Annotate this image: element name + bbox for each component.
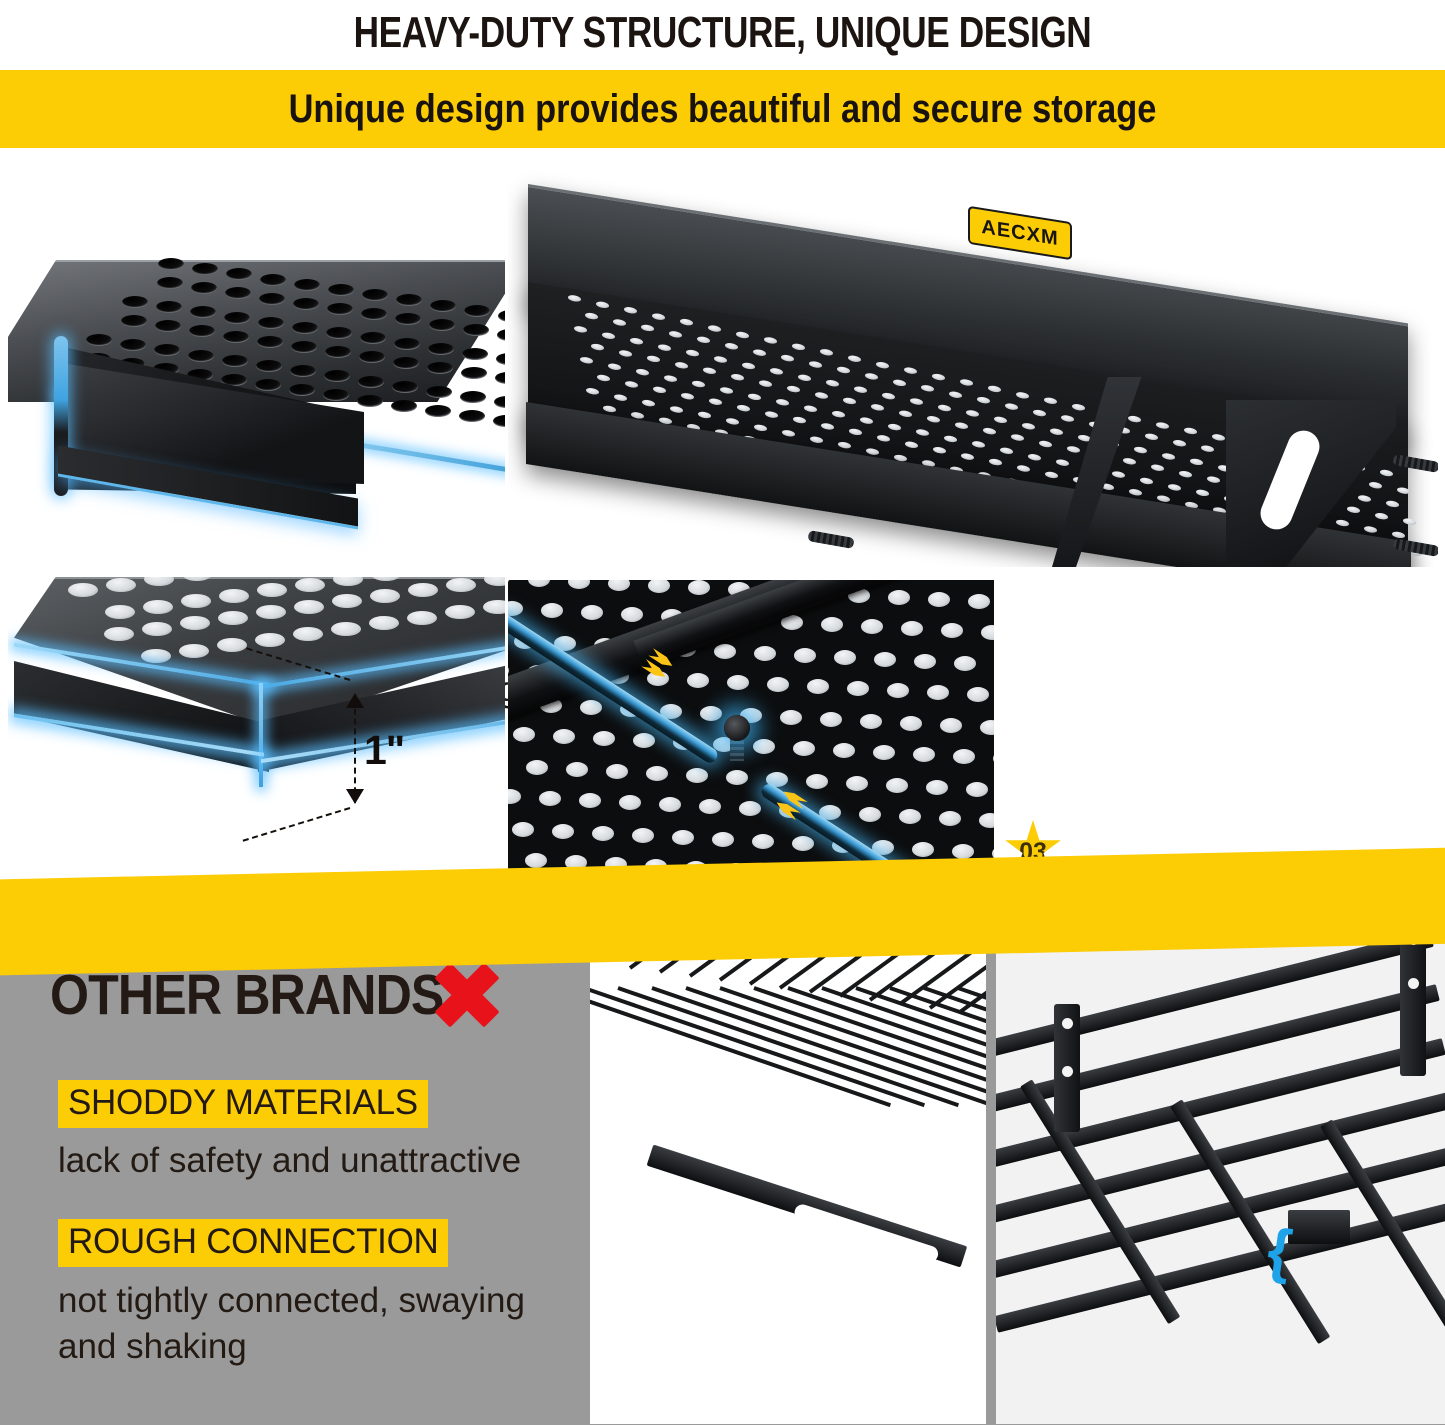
perforation-hole <box>887 683 909 698</box>
perforation-hole <box>669 330 682 338</box>
arrow-down-icon <box>346 789 364 804</box>
perforation-hole <box>680 318 693 326</box>
perforation-hole <box>972 441 985 449</box>
perforation-hole <box>1336 519 1349 527</box>
perforation-hole <box>1044 397 1057 405</box>
perforation-hole <box>703 367 716 375</box>
perforation-hole <box>552 824 574 839</box>
perforation-hole <box>291 341 317 353</box>
slide-rail-glow <box>759 781 935 872</box>
perforation-hole <box>630 337 643 345</box>
perforation-hole <box>692 380 705 388</box>
perforation-hole <box>428 343 454 355</box>
perforation-hole <box>653 386 666 394</box>
perforation-hole <box>938 404 951 412</box>
perforation-hole <box>508 580 510 585</box>
perforation-hole <box>393 357 419 369</box>
perforation-hole <box>606 764 628 779</box>
perforation-hole <box>158 258 184 270</box>
perforation-hole <box>429 319 455 331</box>
perforation-hole <box>664 374 677 382</box>
perforation-hole <box>1196 489 1209 497</box>
perforation-hole <box>181 594 211 608</box>
perforation-hole <box>68 583 98 597</box>
perforation-hole <box>508 789 521 804</box>
perforation-hole <box>493 415 505 427</box>
perforation-hole <box>526 760 548 775</box>
perforation-hole <box>445 605 475 619</box>
perforation-hole <box>849 428 862 436</box>
perforation-hole <box>888 423 901 431</box>
perforation-hole <box>86 334 112 346</box>
perforation-hole <box>328 284 354 296</box>
perforation-hole <box>793 741 815 756</box>
perforation-hole <box>697 336 710 344</box>
perforation-hole <box>820 712 842 727</box>
perforation-hole <box>608 580 630 591</box>
perforation-hole <box>904 367 917 375</box>
perforation-hole <box>1347 506 1360 514</box>
perforation-hole <box>392 381 418 393</box>
perforation-hole <box>675 361 688 369</box>
perforation-hole <box>648 580 670 593</box>
perforation-hole <box>494 396 505 408</box>
perforation-hole <box>1364 525 1377 533</box>
perforation-hole <box>670 405 683 413</box>
perforation-hole <box>1129 489 1142 497</box>
perforation-hole <box>591 343 604 351</box>
perforation-hole <box>832 411 845 419</box>
perforation-hole <box>105 605 135 619</box>
perforation-hole <box>1386 500 1399 508</box>
perforation-hole <box>821 617 843 632</box>
perforation-hole <box>834 650 856 665</box>
perforation-hole <box>967 687 989 702</box>
perforation-hole <box>256 360 282 372</box>
perforation-hole <box>327 303 353 315</box>
perforation-hole <box>826 380 839 388</box>
perforation-hole <box>646 766 668 781</box>
perforation-hole <box>759 379 772 387</box>
perforation-hole <box>794 648 816 663</box>
con-detail-2: not tightly connected, swaying and shaki… <box>58 1278 568 1369</box>
hero-product-photo: AECXM <box>508 162 1438 567</box>
perforation-hole <box>955 421 968 429</box>
perforation-hole <box>593 731 615 746</box>
other-brand-wire-shelf-photo <box>590 926 986 1424</box>
perforation-hole <box>983 427 996 435</box>
perforation-hole <box>513 727 535 742</box>
perforation-hole <box>106 578 136 592</box>
perforation-hole <box>632 828 654 843</box>
perforation-hole <box>596 300 609 308</box>
perforation-hole <box>871 403 884 411</box>
perforation-hole <box>781 354 794 362</box>
perforation-hole <box>753 739 775 754</box>
perforation-hole <box>585 312 598 320</box>
perforation-hole <box>1173 439 1186 447</box>
perforation-hole <box>459 410 485 422</box>
perforation-hole <box>905 440 918 448</box>
perforation-hole <box>1128 415 1141 423</box>
perforation-hole <box>223 331 249 343</box>
perforation-hole <box>255 633 285 647</box>
perforation-hole <box>1162 452 1175 460</box>
perforation-hole <box>295 578 325 592</box>
perforation-hole <box>483 600 505 614</box>
perforation-hole <box>641 324 654 332</box>
perforation-hole <box>727 675 749 690</box>
perforation-hole <box>461 367 487 379</box>
perforation-hole <box>1017 464 1030 472</box>
perforation-hole <box>217 638 247 652</box>
perforation-hole <box>224 312 250 324</box>
perforation-hole <box>541 603 563 618</box>
perforation-hole <box>1140 477 1153 485</box>
perforation-hole <box>619 795 641 810</box>
perforation-hole <box>568 294 581 302</box>
perforation-hole <box>989 458 1002 466</box>
perforation-hole <box>631 411 644 419</box>
perforation-hole <box>1403 518 1416 526</box>
perforation-hole <box>625 380 638 388</box>
perforation-hole <box>1145 433 1158 441</box>
perforation-hole <box>636 368 649 376</box>
wall-mount-bracket <box>1054 1004 1080 1132</box>
perforation-hole <box>370 589 400 603</box>
perforation-hole <box>720 386 733 394</box>
perforation-hole <box>1375 512 1388 520</box>
perforation-hole <box>807 679 829 694</box>
arrow-up-icon <box>346 693 364 708</box>
perforation-hole <box>767 677 789 692</box>
perforation-hole <box>927 415 940 423</box>
perforation-hole <box>737 404 750 412</box>
perforation-hole <box>988 385 1001 393</box>
perforation-hole <box>1358 494 1371 502</box>
perforation-hole <box>977 397 990 405</box>
perforation-hole <box>512 822 534 837</box>
perforation-hole <box>714 644 736 659</box>
other-brand-slat-shelf-photo: { <box>996 926 1445 1424</box>
perforation-hole <box>427 362 453 374</box>
perforation-hole <box>464 305 490 317</box>
perforation-hole <box>914 654 936 669</box>
perforation-hole <box>603 405 616 413</box>
feature-photo-slide-rail <box>508 580 994 872</box>
perforation-hole <box>806 774 828 789</box>
perforation-hole <box>258 317 284 329</box>
wall-mount-bracket <box>1400 926 1426 1076</box>
perforation-hole <box>866 448 879 456</box>
perforation-hole <box>913 747 935 762</box>
perforation-hole <box>1067 446 1080 454</box>
perforation-hole <box>1039 440 1052 448</box>
perforation-hole <box>859 807 881 822</box>
perforation-hole <box>658 343 671 351</box>
perforation-hole <box>446 578 476 592</box>
perforation-hole <box>568 580 590 589</box>
perforation-hole <box>939 811 961 826</box>
perforation-hole <box>736 331 749 339</box>
perforation-hole <box>810 435 823 443</box>
perforation-hole <box>179 644 209 658</box>
perforation-hole <box>899 809 921 824</box>
perforation-hole <box>614 393 627 401</box>
perforation-hole <box>980 720 994 735</box>
perforation-hole <box>953 749 975 764</box>
perforation-hole <box>886 778 908 793</box>
perforation-hole <box>854 386 867 394</box>
perforation-hole <box>893 378 906 386</box>
perforation-hole <box>821 422 834 430</box>
perforation-hole <box>332 594 362 608</box>
perforation-hole <box>865 372 878 380</box>
perforation-hole <box>837 366 850 374</box>
perforation-hole <box>709 398 722 406</box>
perforation-hole <box>597 374 610 382</box>
perforation-hole <box>961 452 974 460</box>
perforation-hole <box>954 656 976 671</box>
perforation-hole <box>754 423 767 431</box>
perforation-hole <box>1184 427 1197 435</box>
perforation-hole <box>1045 470 1058 478</box>
perforation-hole <box>580 700 602 715</box>
perforation-hole <box>574 325 587 333</box>
perforation-hole <box>358 376 384 388</box>
perforation-hole <box>592 826 614 841</box>
perforation-hole <box>933 446 946 454</box>
perforation-hole <box>1011 433 1024 441</box>
perforation-hole <box>633 733 655 748</box>
perforation-hole <box>460 391 486 403</box>
perforation-hole <box>780 710 802 725</box>
feature-photo-one-piece <box>8 214 505 569</box>
perforation-hole <box>899 409 912 417</box>
perforation-hole <box>860 714 882 729</box>
c-channel-art <box>8 214 505 569</box>
perforation-hole <box>525 853 547 868</box>
perforation-hole <box>1134 446 1147 454</box>
perforation-hole <box>1072 403 1085 411</box>
perforation-hole <box>698 411 711 419</box>
perforation-hole <box>838 441 851 449</box>
perforation-hole <box>621 607 643 622</box>
perforation-hole <box>726 417 739 425</box>
perforation-hole <box>581 605 603 620</box>
perforation-hole <box>463 324 489 336</box>
perforation-hole <box>1156 421 1169 429</box>
hero-art: AECXM <box>508 162 1438 567</box>
perforation-hole <box>1000 447 1013 455</box>
perforation-hole <box>579 793 601 808</box>
perforation-hole <box>141 649 171 663</box>
perforation-hole <box>331 622 361 636</box>
perforation-hole <box>932 373 945 381</box>
perforation-hole <box>820 349 833 357</box>
perforation-hole <box>944 435 957 443</box>
perforation-hole <box>143 600 173 614</box>
perforation-hole <box>553 729 575 744</box>
perforation-hole <box>1022 422 1035 430</box>
perforation-hole <box>1056 459 1069 467</box>
perforation-hole <box>1123 458 1136 466</box>
perforation-hole <box>776 398 789 406</box>
perforation-hole <box>619 349 632 357</box>
perforation-hole <box>294 279 320 291</box>
perforation-hole <box>846 776 868 791</box>
perforation-hole <box>748 392 761 400</box>
slat-shelf-art <box>996 926 1445 1424</box>
perforation-hole <box>394 338 420 350</box>
perforation-hole <box>960 379 973 387</box>
perforation-hole <box>586 387 599 395</box>
perforation-hole <box>391 400 417 412</box>
perforation-hole <box>708 325 721 333</box>
feature-photo-sturdy-frame: 1" <box>8 577 505 857</box>
perforation-hole <box>876 361 889 369</box>
perforation-hole <box>681 392 694 400</box>
perforation-hole <box>994 416 1007 424</box>
infographic-page: HEAVY-DUTY STRUCTURE, UNIQUE DESIGN Uniq… <box>0 0 1445 1425</box>
perforation-hole <box>1369 481 1382 489</box>
perforation-hole <box>1033 409 1046 417</box>
perforation-hole <box>968 594 990 609</box>
perforation-hole <box>1179 470 1192 478</box>
perforation-hole <box>157 277 183 289</box>
perforation-hole <box>804 405 817 413</box>
perforation-hole <box>686 349 699 357</box>
perforation-hole <box>608 362 621 370</box>
perforation-hole <box>260 274 286 286</box>
perforation-hole <box>782 429 795 437</box>
perforation-hole <box>1151 464 1164 472</box>
perforation-hole <box>613 318 626 326</box>
header-subtitle: Unique design provides beautiful and sec… <box>101 70 1344 148</box>
perforation-hole <box>1201 445 1214 453</box>
comparison-zone: OTHER BRANDS SHODDY MATERIALS lack of sa… <box>0 912 1445 1425</box>
perforation-hole <box>425 405 451 417</box>
perforation-hole <box>369 616 399 630</box>
perforation-hole <box>1212 433 1225 441</box>
perforation-hole <box>1061 415 1074 423</box>
perforation-hole <box>714 355 727 363</box>
perforation-hole <box>255 379 281 391</box>
perforation-hole <box>180 616 210 630</box>
perforation-hole <box>602 331 615 339</box>
perforation-hole <box>659 797 681 812</box>
perforation-hole <box>462 348 488 360</box>
perforation-hole <box>926 780 948 795</box>
perforation-hole <box>927 685 949 700</box>
perforation-hole <box>497 329 505 341</box>
perforation-hole <box>888 590 910 605</box>
perforation-hole <box>495 372 505 384</box>
dimension-value: 1" <box>364 727 404 774</box>
perforation-hole <box>941 623 963 638</box>
brand-badge: AECXM <box>968 206 1072 260</box>
perforation-hole <box>688 580 710 595</box>
perforation-hole <box>566 762 588 777</box>
slide-rail-art <box>508 580 994 872</box>
perforation-hole <box>1050 428 1063 436</box>
perforation-hole <box>765 410 778 418</box>
corner-art: 1" <box>8 577 505 857</box>
accessory-hook <box>807 530 854 549</box>
perforation-hole <box>256 605 286 619</box>
perforation-hole <box>257 336 283 348</box>
perforation-hole <box>921 384 934 392</box>
perforation-hole <box>1005 403 1018 411</box>
dimension-callout: 1" <box>330 685 450 815</box>
perforation-hole <box>686 768 708 783</box>
shelf-connector-block <box>1288 1210 1350 1244</box>
perforation-hole <box>687 673 709 688</box>
perforation-hole <box>1016 391 1029 399</box>
dimension-line <box>354 699 356 803</box>
perforation-hole <box>949 390 962 398</box>
dimension-leader-line <box>243 807 351 842</box>
perforation-hole <box>787 385 800 393</box>
perforation-hole <box>809 360 822 368</box>
perforation-hole <box>222 355 248 367</box>
perforation-hole <box>293 627 323 641</box>
perforation-hole <box>104 627 134 641</box>
perforation-hole <box>966 410 979 418</box>
perforation-hole <box>219 589 249 603</box>
feature-zone: AECXM 01 One-piece Folding And Forming <box>0 152 1445 892</box>
perforation-hole <box>528 580 550 587</box>
perforation-hole <box>843 397 856 405</box>
perforation-hole <box>652 312 665 320</box>
perforation-hole <box>861 619 883 634</box>
perforation-hole <box>792 836 814 851</box>
perforation-hole <box>833 743 855 758</box>
perforation-hole <box>1397 487 1410 495</box>
perforation-hole <box>624 306 637 314</box>
perforation-hole <box>672 830 694 845</box>
con-headline-2: ROUGH CONNECTION <box>58 1219 448 1267</box>
page-title: HEAVY-DUTY STRUCTURE, UNIQUE DESIGN <box>145 2 1301 64</box>
perforation-hole <box>408 583 438 597</box>
perforation-hole <box>848 355 861 363</box>
perforation-hole <box>901 621 923 636</box>
bracket-cutout <box>1256 426 1325 534</box>
perforation-hole <box>1168 483 1181 491</box>
perforation-hole <box>259 293 285 305</box>
wire-mesh-art <box>590 926 986 1424</box>
perforation-hole <box>508 601 523 616</box>
perforation-hole <box>725 342 738 350</box>
perforation-hole <box>981 625 994 640</box>
perforation-hole <box>912 842 934 857</box>
perforation-hole <box>700 706 722 721</box>
perforation-hole <box>752 834 774 849</box>
perforation-hole <box>699 799 721 814</box>
perforation-hole <box>860 417 873 425</box>
perforation-hole <box>793 416 806 424</box>
perforation-hole <box>770 368 783 376</box>
perforation-hole <box>916 429 929 437</box>
perforation-hole <box>877 434 890 442</box>
perforation-hole <box>993 751 994 766</box>
perforation-hole <box>874 652 896 667</box>
perforation-hole <box>847 681 869 696</box>
perforation-hole <box>257 583 287 597</box>
con-detail-1: lack of safety and unattractive <box>58 1138 558 1184</box>
perforation-hole <box>357 395 383 407</box>
perforation-hole <box>712 832 734 847</box>
